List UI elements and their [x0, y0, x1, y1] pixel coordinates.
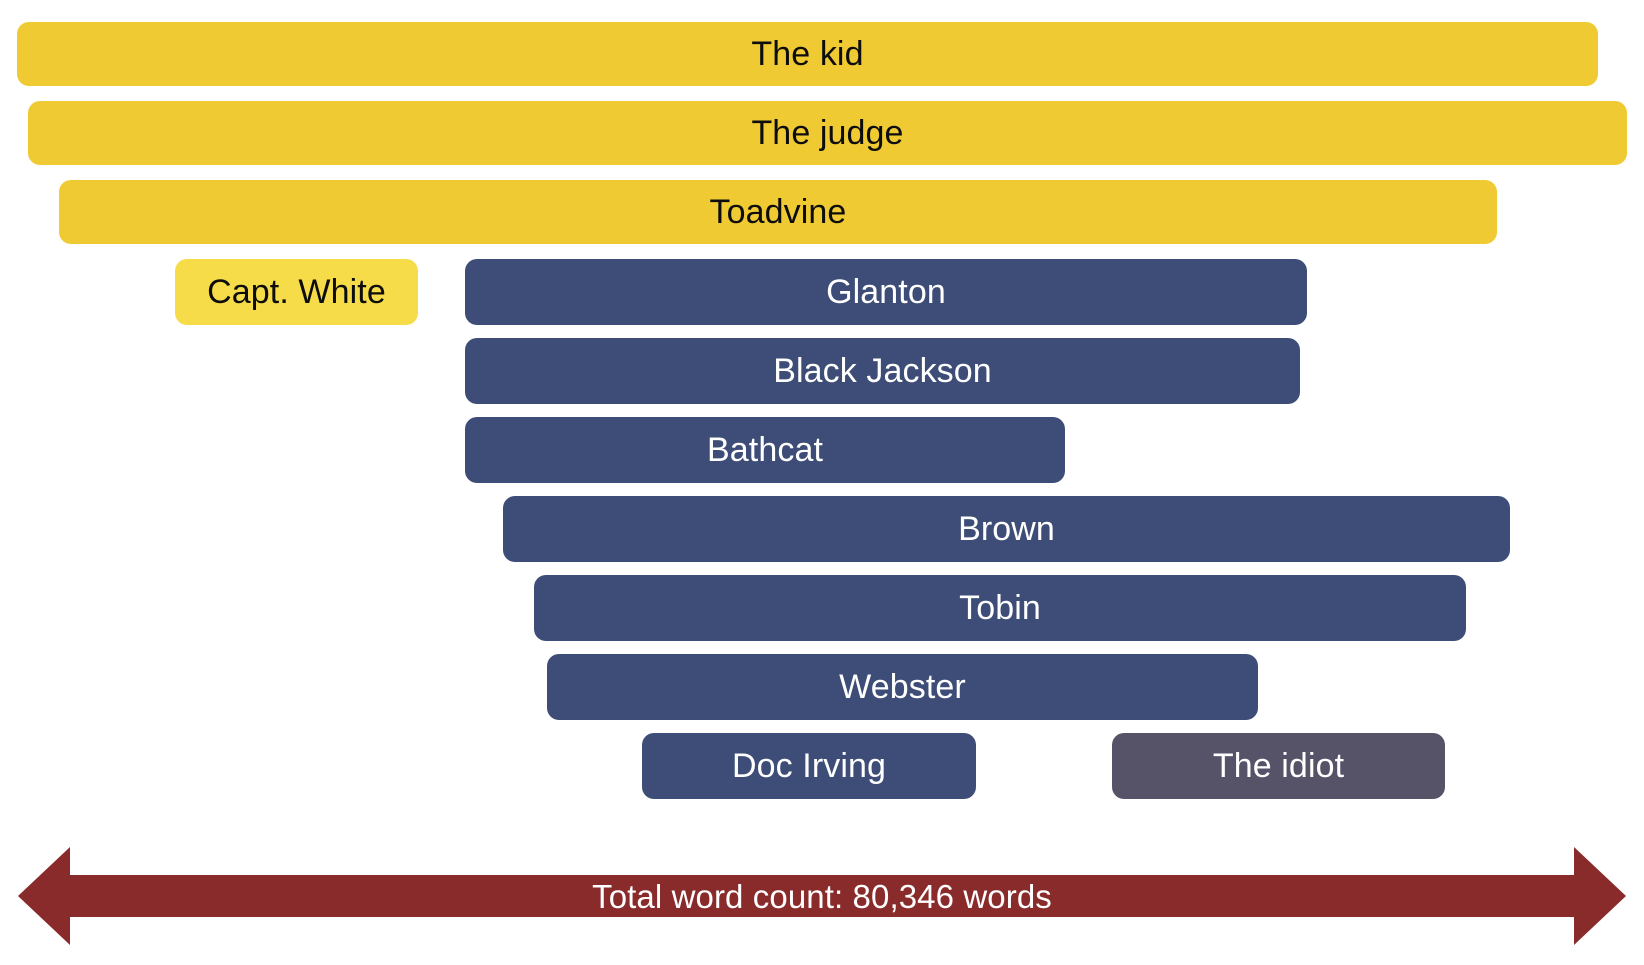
- bar-doc-irving[interactable]: Doc Irving: [642, 733, 976, 799]
- bar-label-the-judge: The judge: [751, 116, 903, 150]
- bar-brown[interactable]: Brown: [503, 496, 1510, 562]
- bar-the-kid[interactable]: The kid: [17, 22, 1598, 86]
- bar-label-webster: Webster: [839, 670, 966, 704]
- bar-glanton[interactable]: Glanton: [465, 259, 1307, 325]
- bar-label-capt-white: Capt. White: [207, 275, 386, 309]
- bar-label-the-idiot: The idiot: [1213, 749, 1344, 783]
- bar-tobin[interactable]: Tobin: [534, 575, 1466, 641]
- character-span-chart: The kidThe judgeToadvineCapt. WhiteGlant…: [0, 0, 1644, 965]
- bar-label-glanton: Glanton: [826, 275, 946, 309]
- bar-label-doc-irving: Doc Irving: [732, 749, 886, 783]
- bar-label-toadvine: Toadvine: [710, 195, 847, 229]
- bar-label-brown: Brown: [958, 512, 1055, 546]
- bar-webster[interactable]: Webster: [547, 654, 1258, 720]
- bar-bathcat[interactable]: Bathcat: [465, 417, 1065, 483]
- total-word-count-arrow: Total word count: 80,346 words: [0, 840, 1644, 952]
- bar-the-judge[interactable]: The judge: [28, 101, 1627, 165]
- bar-black-jackson[interactable]: Black Jackson: [465, 338, 1300, 404]
- total-word-count-label: Total word count: 80,346 words: [0, 840, 1644, 952]
- bar-label-bathcat: Bathcat: [707, 433, 823, 467]
- bar-label-tobin: Tobin: [959, 591, 1041, 625]
- bar-toadvine[interactable]: Toadvine: [59, 180, 1497, 244]
- bar-the-idiot[interactable]: The idiot: [1112, 733, 1445, 799]
- bar-label-black-jackson: Black Jackson: [773, 354, 992, 388]
- bar-label-the-kid: The kid: [751, 37, 863, 71]
- bar-capt-white[interactable]: Capt. White: [175, 259, 418, 325]
